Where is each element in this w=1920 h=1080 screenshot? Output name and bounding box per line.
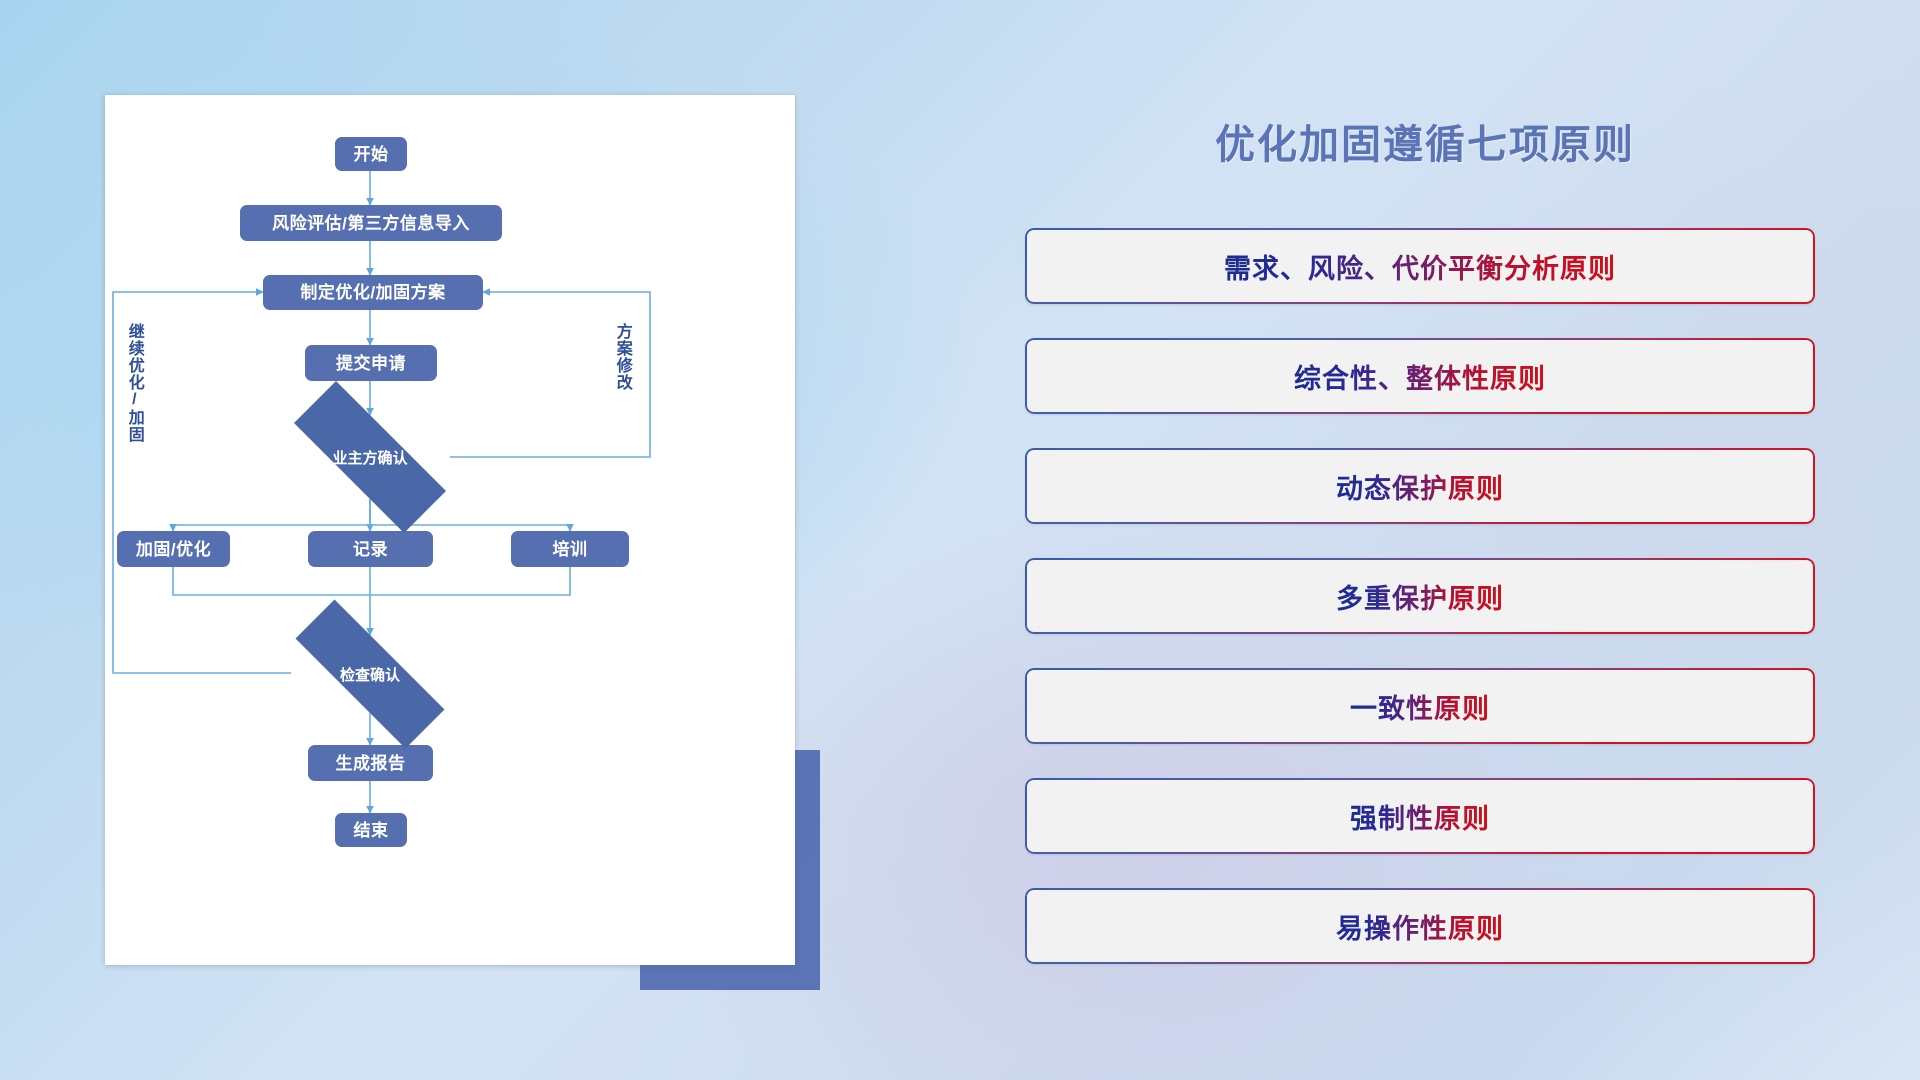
flow-node-reinforce[interactable]: 加固/优化 (117, 531, 230, 567)
flow-node-label: 风险评估/第三方信息导入 (272, 215, 470, 232)
flow-node-label: 开始 (354, 146, 389, 163)
flow-decision-label: 检查确认 (340, 664, 400, 685)
flow-node-label: 生成报告 (336, 755, 406, 772)
principles-list: 需求、风险、代价平衡分析原则 综合性、整体性原则 动态保护原则 多重保护原则 一… (1025, 228, 1815, 998)
flow-node-training[interactable]: 培训 (511, 531, 629, 567)
principle-card[interactable]: 强制性原则 (1025, 778, 1815, 854)
flow-node-end[interactable]: 结束 (335, 813, 407, 847)
principle-label: 动态保护原则 (1336, 467, 1504, 506)
flow-node-label: 制定优化/加固方案 (300, 284, 445, 301)
principle-label: 易操作性原则 (1336, 907, 1504, 946)
flowchart-card: 开始 风险评估/第三方信息导入 制定优化/加固方案 提交申请 业主方确认 加固/… (105, 95, 795, 965)
flow-node-label: 结束 (354, 822, 389, 839)
page-title-text: 优化加固遵循七项原则 (1215, 123, 1635, 167)
flow-node-label: 培训 (553, 541, 588, 558)
principle-label: 需求、风险、代价平衡分析原则 (1224, 247, 1616, 286)
flow-decision-check-confirm[interactable]: 检查确认 (260, 635, 480, 713)
flow-node-label: 提交申请 (336, 355, 406, 372)
flow-node-submit-application[interactable]: 提交申请 (305, 345, 437, 381)
flow-node-generate-report[interactable]: 生成报告 (308, 745, 433, 781)
page-title: 优化加固遵循七项原则 (1030, 112, 1820, 170)
principle-card[interactable]: 一致性原则 (1025, 668, 1815, 744)
flow-node-record[interactable]: 记录 (308, 531, 433, 567)
principle-label: 强制性原则 (1350, 797, 1490, 836)
principle-card[interactable]: 需求、风险、代价平衡分析原则 (1025, 228, 1815, 304)
flow-node-risk-assessment[interactable]: 风险评估/第三方信息导入 (240, 205, 502, 241)
principle-label: 一致性原则 (1350, 687, 1490, 726)
flow-node-plan[interactable]: 制定优化/加固方案 (263, 275, 483, 310)
flow-decision-owner-confirm[interactable]: 业主方确认 (260, 415, 480, 499)
flow-node-label: 加固/优化 (136, 541, 211, 558)
principle-label: 综合性、整体性原则 (1294, 357, 1546, 396)
principle-card[interactable]: 多重保护原则 (1025, 558, 1815, 634)
principle-card[interactable]: 易操作性原则 (1025, 888, 1815, 964)
flow-decision-label: 业主方确认 (332, 447, 407, 468)
flow-node-label: 记录 (353, 541, 388, 558)
principle-card[interactable]: 动态保护原则 (1025, 448, 1815, 524)
principle-label: 多重保护原则 (1336, 577, 1504, 616)
slide-canvas: 开始 风险评估/第三方信息导入 制定优化/加固方案 提交申请 业主方确认 加固/… (0, 0, 1920, 1080)
principle-card[interactable]: 综合性、整体性原则 (1025, 338, 1815, 414)
flow-node-start[interactable]: 开始 (335, 137, 407, 171)
flow-edge-label-continue-optimize: 继续优化/加固 (125, 323, 142, 443)
flow-edge-label-plan-revision: 方案修改 (613, 323, 630, 391)
